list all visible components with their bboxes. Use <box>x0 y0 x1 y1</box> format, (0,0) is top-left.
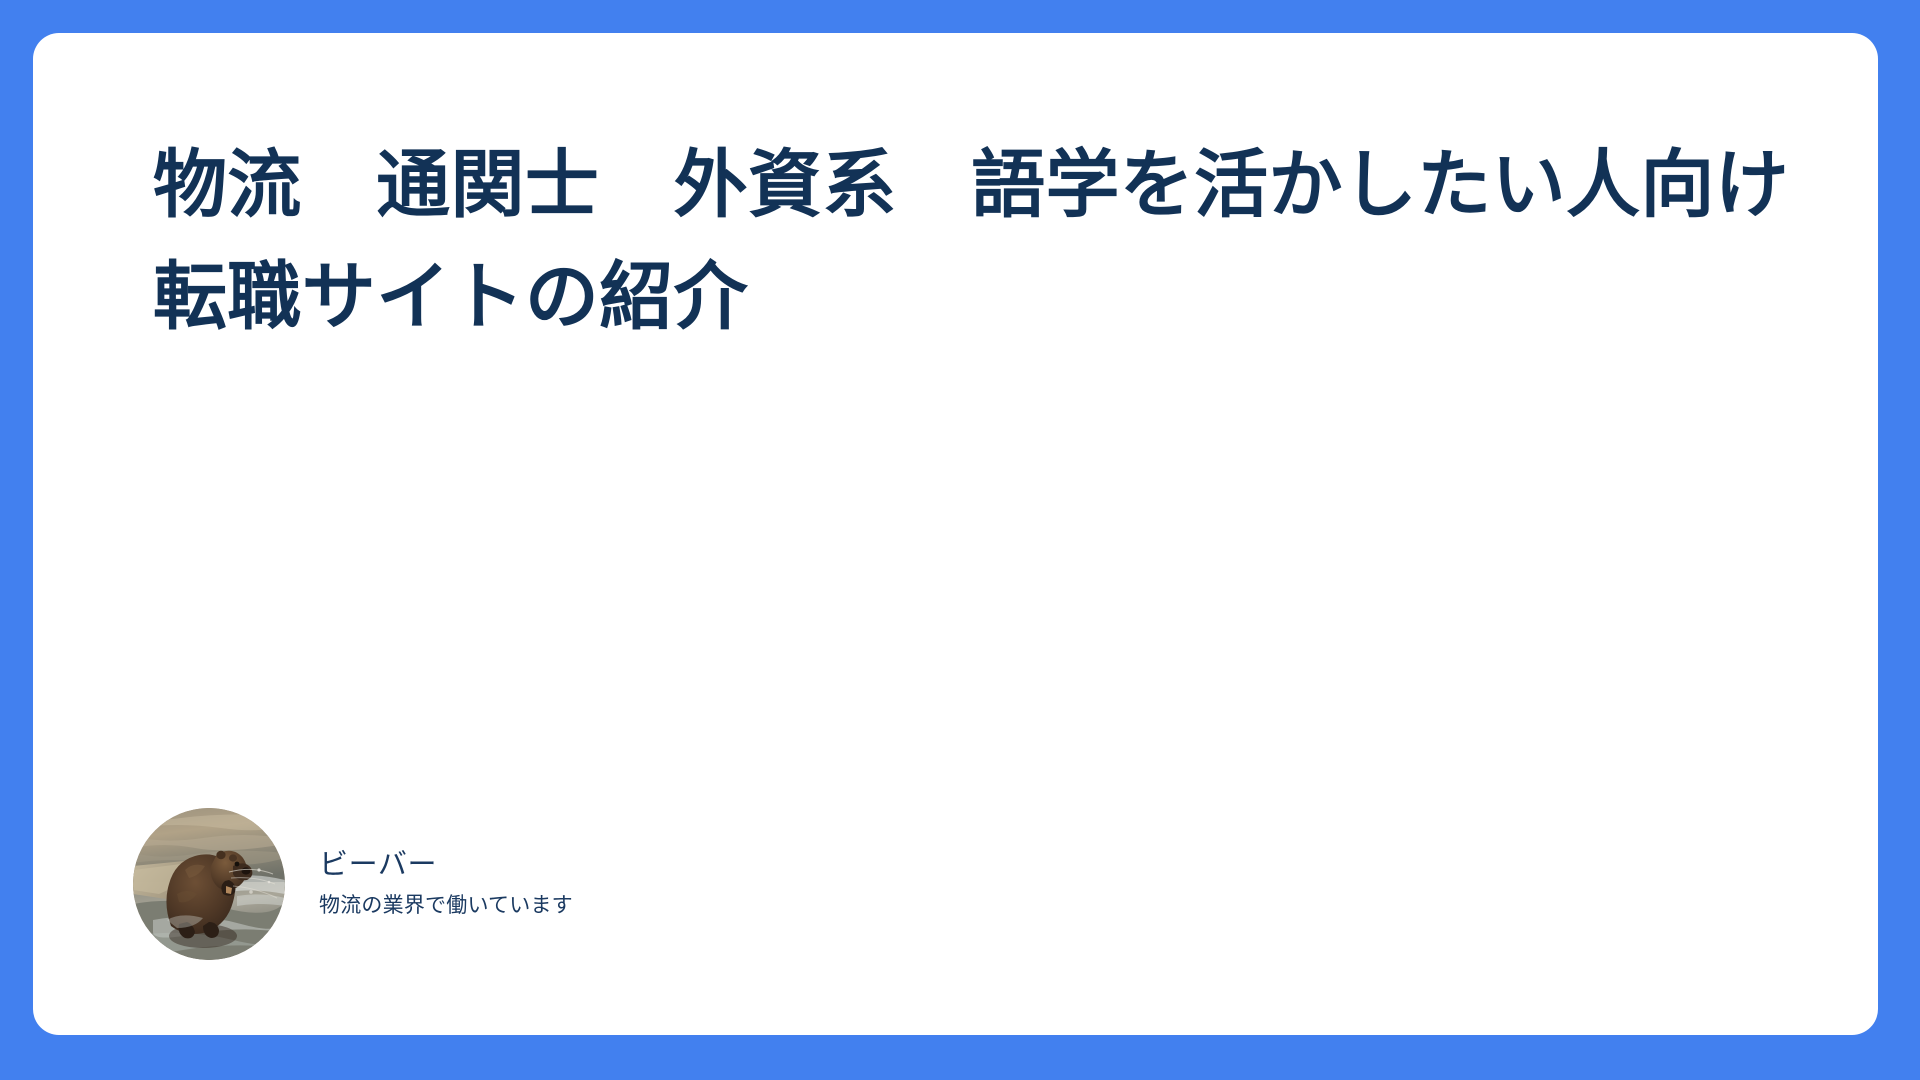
author-text: ビーバー 物流の業界で働いています <box>319 846 573 923</box>
beaver-photo-icon <box>133 808 285 960</box>
author-name: ビーバー <box>319 846 573 885</box>
slide-card: 物流 通関士 外資系 語学を活かしたい人向け転職サイトの紹介 <box>33 33 1878 1035</box>
avatar <box>133 808 285 960</box>
page-title: 物流 通関士 外資系 語学を活かしたい人向け転職サイトの紹介 <box>153 129 1793 354</box>
author-block: ビーバー 物流の業界で働いています <box>133 808 573 960</box>
author-tagline: 物流の業界で働いています <box>319 891 573 920</box>
